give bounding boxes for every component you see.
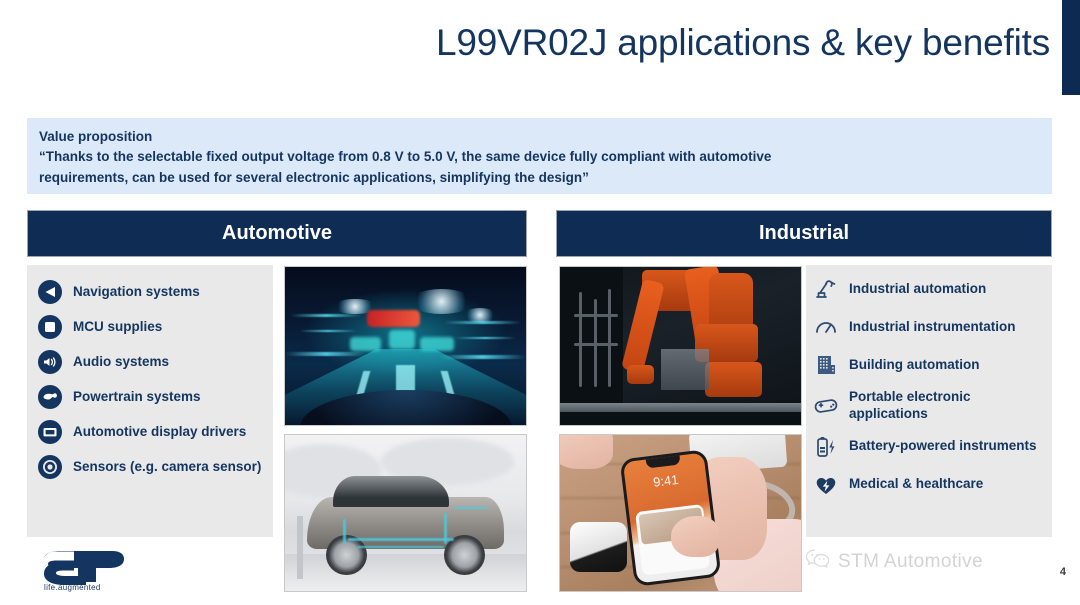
industrial-list-panel: Industrial automation Industrial instrum… xyxy=(806,265,1052,537)
list-item: Navigation systems xyxy=(37,279,267,305)
corner-accent-bar xyxy=(1062,0,1080,95)
robot-arm-icon xyxy=(812,275,840,303)
display-monitor-icon xyxy=(37,419,63,445)
page-title: L99VR02J applications & key benefits xyxy=(330,22,1050,63)
slide-root: L99VR02J applications & key benefits Val… xyxy=(0,0,1080,605)
value-proposition-line-1: “Thanks to the selectable fixed output v… xyxy=(39,147,1040,167)
speaker-sound-icon xyxy=(37,349,63,375)
list-item-label: Navigation systems xyxy=(73,284,200,301)
handheld-console-icon xyxy=(812,392,840,420)
column-header-automotive: Automotive xyxy=(27,210,527,257)
list-item: Audio systems xyxy=(37,349,267,375)
list-item-label: MCU supplies xyxy=(73,319,162,336)
list-item: Powertrain systems xyxy=(37,384,267,410)
wechat-watermark: STM Automotive xyxy=(805,548,983,575)
silver-sedan-photo xyxy=(284,434,527,592)
battery-bolt-icon xyxy=(812,433,840,461)
st-tagline: life.augmented xyxy=(44,583,101,592)
phone-clock: 9:41 xyxy=(625,468,707,493)
list-item-label: Powertrain systems xyxy=(73,389,201,406)
chip-square-icon xyxy=(37,314,63,340)
wechat-icon xyxy=(805,548,831,575)
list-item: Medical & healthcare xyxy=(812,471,1046,499)
list-item-label: Audio systems xyxy=(73,354,169,371)
automotive-list-panel: Navigation systems MCU supplies Audio sy… xyxy=(27,265,273,537)
list-item-label: Industrial automation xyxy=(849,281,986,298)
list-item: Sensors (e.g. camera sensor) xyxy=(37,454,267,480)
list-item-label: Automotive display drivers xyxy=(73,424,246,441)
value-proposition-heading: Value proposition xyxy=(39,127,1040,146)
list-item-label: Portable electronic applications xyxy=(849,389,1046,423)
list-item: Industrial automation xyxy=(812,275,1046,303)
list-item: Industrial instrumentation xyxy=(812,313,1046,341)
value-proposition-box: Value proposition “Thanks to the selecta… xyxy=(27,118,1052,194)
gauge-icon xyxy=(812,313,840,341)
list-item: MCU supplies xyxy=(37,314,267,340)
list-item-label: Medical & healthcare xyxy=(849,476,983,493)
column-header-industrial: Industrial xyxy=(556,210,1052,257)
hand-holding-smartphone-photo: 9:41 xyxy=(559,434,802,592)
engine-icon xyxy=(37,384,63,410)
building-icon xyxy=(812,351,840,379)
heart-bolt-icon xyxy=(812,471,840,499)
watermark-text: STM Automotive xyxy=(838,551,983,573)
list-item: Building automation xyxy=(812,351,1046,379)
list-item: Automotive display drivers xyxy=(37,419,267,445)
value-proposition-line-2: requirements, can be used for several el… xyxy=(39,168,1040,188)
night-driving-hud-photo xyxy=(284,266,527,426)
list-item-label: Industrial instrumentation xyxy=(849,319,1016,336)
list-item-label: Building automation xyxy=(849,357,980,374)
list-item: Portable electronic applications xyxy=(812,389,1046,423)
industrial-robot-arm-photo xyxy=(559,266,802,426)
page-number: 4 xyxy=(1060,566,1066,578)
list-item: Battery-powered instruments xyxy=(812,433,1046,461)
camera-sensor-icon xyxy=(37,454,63,480)
list-item-label: Battery-powered instruments xyxy=(849,438,1037,455)
navigation-arrow-icon xyxy=(37,279,63,305)
list-item-label: Sensors (e.g. camera sensor) xyxy=(73,459,261,476)
